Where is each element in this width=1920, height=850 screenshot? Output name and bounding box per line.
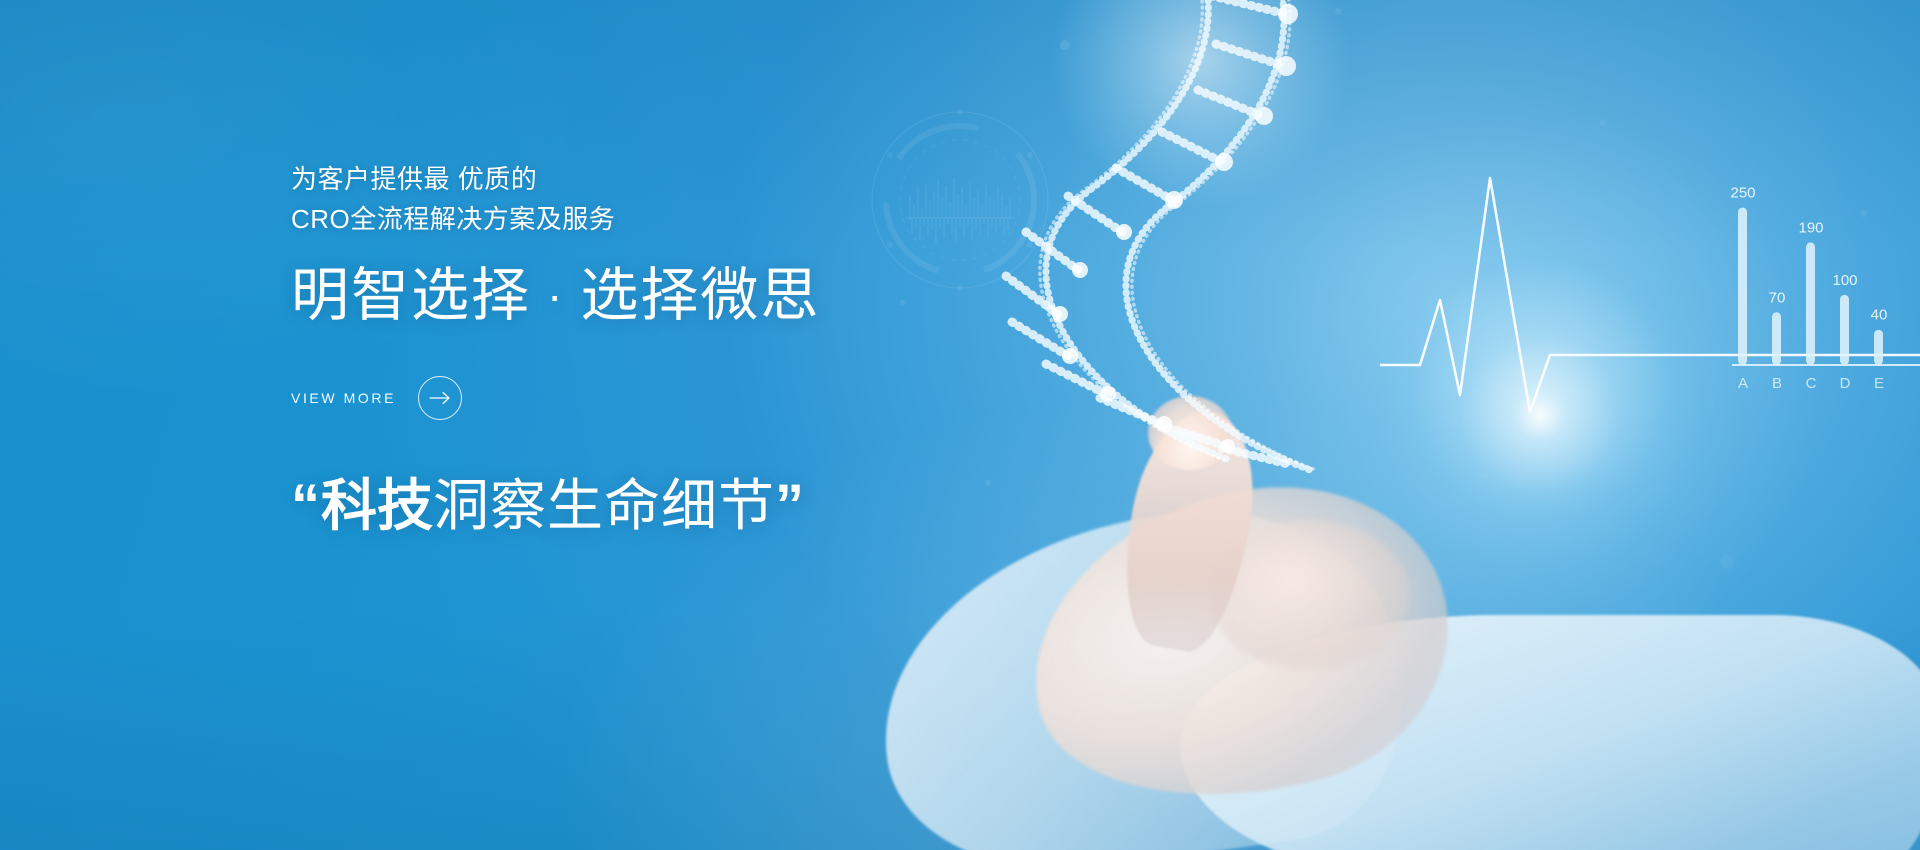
view-more-label: VIEW MORE <box>291 390 396 406</box>
svg-text:70: 70 <box>1769 289 1786 306</box>
banner-subtitle: 为客户提供最 优质的 CRO全流程解决方案及服务 <box>291 160 1051 239</box>
quote-rest: 洞察生命细节 <box>433 474 775 537</box>
data-hologram: 250 70 190 100 40 A B C D E <box>1380 150 1920 430</box>
hero-banner: 250 70 190 100 40 A B C D E 为客户提供最 优质的 C… <box>0 0 1920 850</box>
svg-text:B: B <box>1772 375 1782 392</box>
arrow-right-icon[interactable] <box>418 376 462 420</box>
svg-text:100: 100 <box>1832 272 1857 289</box>
quote-keyword: 科技 <box>321 474 433 537</box>
bar-chart-hologram: 250 70 190 100 40 A B C D E <box>1730 185 1920 393</box>
banner-quote: “科技洞察生命细节” <box>291 474 1051 538</box>
svg-text:40: 40 <box>1871 307 1888 324</box>
headline-separator: · <box>531 269 580 321</box>
banner-content: 为客户提供最 优质的 CRO全流程解决方案及服务 明智选择·选择微思 VIEW … <box>291 160 1051 537</box>
svg-text:E: E <box>1874 375 1884 392</box>
subtitle-line-1: 为客户提供最 优质的 <box>291 164 537 194</box>
headline-left: 明智选择 <box>291 263 531 328</box>
headline-right: 选择微思 <box>580 263 820 328</box>
svg-text:A: A <box>1738 375 1748 392</box>
svg-text:D: D <box>1840 375 1851 392</box>
view-more-button[interactable]: VIEW MORE <box>291 376 462 420</box>
subtitle-line-2: CRO全流程解决方案及服务 <box>291 200 1051 240</box>
quote-close-mark: ” <box>775 473 805 538</box>
banner-headline: 明智选择·选择微思 <box>291 265 1051 328</box>
quote-open-mark: “ <box>291 473 321 538</box>
svg-text:C: C <box>1806 375 1817 392</box>
svg-text:250: 250 <box>1730 185 1755 202</box>
svg-text:190: 190 <box>1798 219 1823 236</box>
